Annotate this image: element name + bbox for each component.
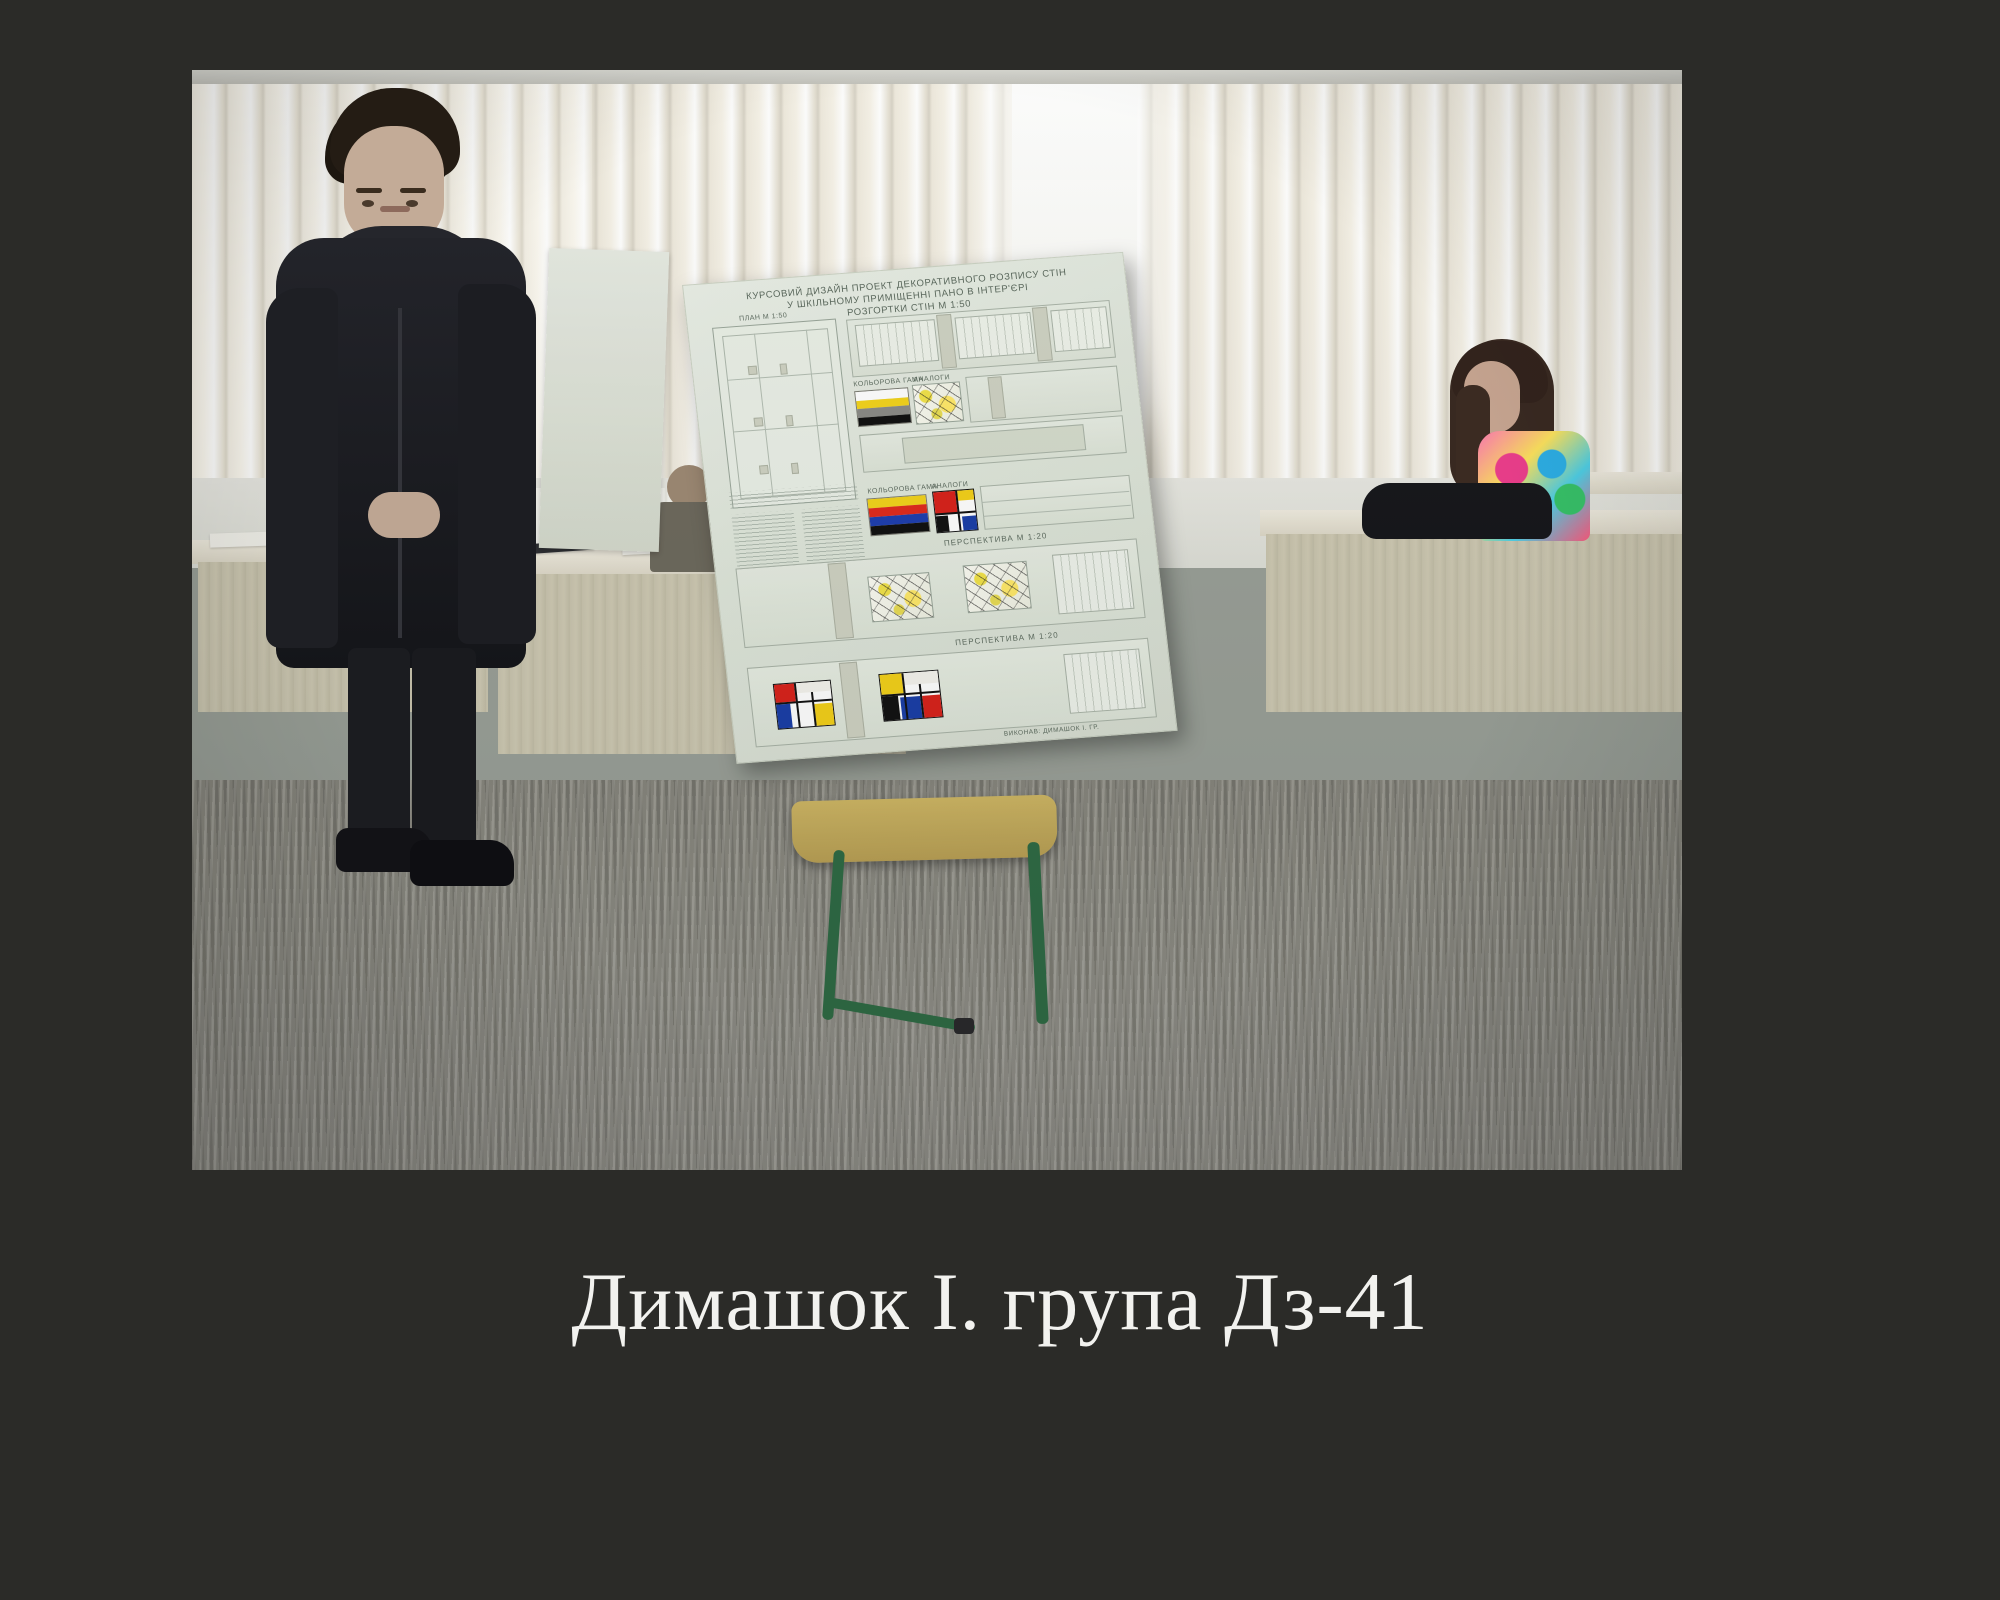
chair-foot-center (954, 1018, 974, 1034)
man-coat-right-panel (458, 284, 536, 644)
board-mural-art-1 (867, 572, 934, 622)
board-mondrian-mural-2 (878, 670, 943, 722)
slide-root: КУРСОВИЙ ДИЗАЙН ПРОЕКТ ДЕКОРАТИВНОГО РОЗ… (0, 0, 2000, 1600)
board-mondrian-mural-1 (773, 680, 836, 730)
man-coat-left-panel (266, 288, 338, 648)
board-analog-image-1 (912, 381, 964, 424)
board-sheet: КУРСОВИЙ ДИЗАЙН ПРОЕКТ ДЕКОРАТИВНОГО РОЗ… (682, 252, 1178, 764)
board-window-strip-2 (954, 312, 1035, 359)
board-perspective-2-window (1063, 648, 1146, 713)
slide-caption: Димашок І. група Дз-41 (0, 1255, 2000, 1349)
man-mouth (380, 206, 410, 212)
man-hands (368, 492, 440, 538)
board-label-color-scheme-2: КОЛЬОРОВА ГАМА (867, 483, 938, 495)
slide-photo: КУРСОВИЙ ДИЗАЙН ПРОЕКТ ДЕКОРАТИВНОГО РОЗ… (192, 70, 1682, 1170)
man-shoe-right (410, 840, 514, 886)
board-mondrian-swatch-1 (932, 489, 979, 534)
presentation-board: КУРСОВИЙ ДИЗАЙН ПРОЕКТ ДЕКОРАТИВНОГО РОЗ… (682, 252, 1175, 762)
man-coat-zipper (398, 308, 402, 638)
photo-scene: КУРСОВИЙ ДИЗАЙН ПРОЕКТ ДЕКОРАТИВНОГО РОЗ… (192, 70, 1682, 1170)
board-floor-plan (712, 319, 856, 509)
black-bag-on-desk (1362, 483, 1552, 539)
board-elevation-4 (980, 475, 1135, 530)
seated-student (1422, 335, 1612, 545)
board-palette-top (854, 387, 912, 427)
man-trouser-right (412, 648, 476, 854)
standing-student (252, 88, 582, 918)
blind-rail (192, 70, 1682, 84)
board-window-strip-1 (855, 319, 940, 367)
board-mural-art-2 (963, 561, 1032, 613)
school-chair-seat (791, 795, 1058, 864)
board-palette-bottom (866, 494, 930, 536)
board-window-strip-3 (1050, 306, 1111, 352)
man-trouser-left (348, 648, 410, 848)
board-perspective-1-window (1052, 549, 1135, 614)
desk-right-front (1266, 534, 1682, 712)
